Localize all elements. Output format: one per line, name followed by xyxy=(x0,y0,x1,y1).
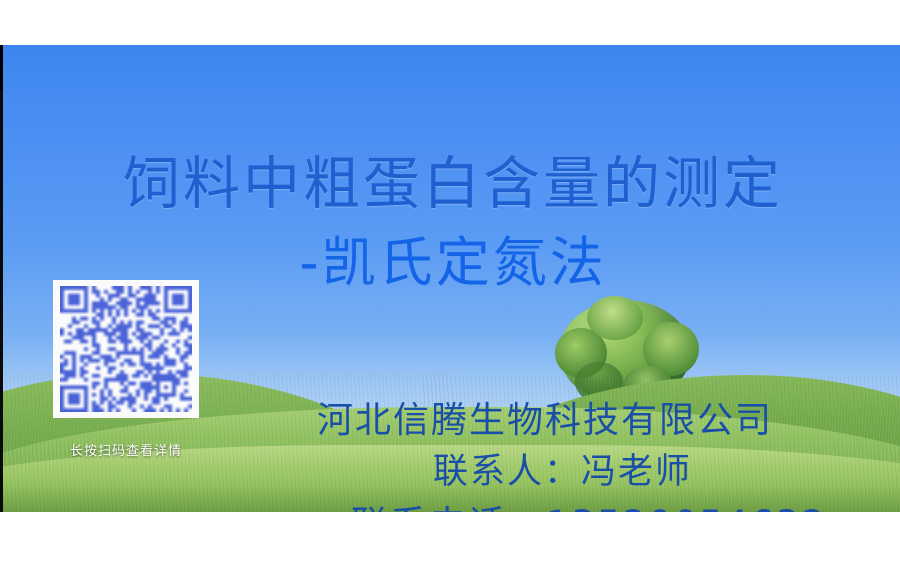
player-left-edge xyxy=(0,90,3,512)
page-bottom-margin xyxy=(0,512,900,561)
company-info-block: 河北信腾生物科技有限公司 联系人：冯老师 联系电话：13520054632 xyxy=(303,403,900,512)
video-player[interactable]: 饲料中粗蛋白含量的测定 -凯氏定氮法 河北信腾生物科技有限公司 联系人：冯老师 … xyxy=(0,45,900,512)
video-frame: 饲料中粗蛋白含量的测定 -凯氏定氮法 河北信腾生物科技有限公司 联系人：冯老师 … xyxy=(3,45,900,512)
page-top-margin xyxy=(0,0,900,45)
tree-canopy-lobe xyxy=(587,296,643,340)
qr-code-icon[interactable] xyxy=(53,280,199,418)
qr-caption: 长按扫码查看详情 xyxy=(53,440,199,459)
qr-code-canvas xyxy=(60,286,192,412)
contact-person: 联系人：冯老师 xyxy=(433,455,900,490)
company-name: 河北信腾生物科技有限公司 xyxy=(317,403,900,439)
qr-code-block[interactable]: 长按扫码查看详情 xyxy=(53,280,199,459)
page-title: 饲料中粗蛋白含量的测定 xyxy=(3,153,900,217)
